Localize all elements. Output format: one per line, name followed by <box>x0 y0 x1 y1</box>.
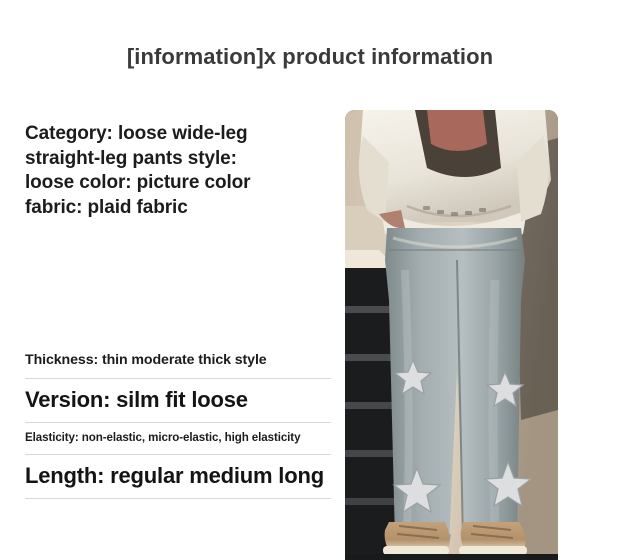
spec-rows-block: Thickness: thin moderate thick style Ver… <box>25 352 337 499</box>
spec-row-elasticity: Elasticity: non-elastic, micro-elastic, … <box>25 431 337 444</box>
spec-row-length: Length: regular medium long <box>25 463 337 489</box>
spec-elasticity-label: Elasticity: non-elastic, micro-elastic, … <box>25 431 337 444</box>
hoodie <box>359 110 551 248</box>
page-title: [information]x product information <box>0 44 620 70</box>
spec-thickness-label: Thickness: thin moderate thick style <box>25 352 337 368</box>
category-line: straight-leg pants style: <box>25 147 335 172</box>
spec-version-label: Version: silm fit loose <box>25 387 337 413</box>
spec-row-thickness: Thickness: thin moderate thick style <box>25 352 337 368</box>
product-information-page: [information]x product information Categ… <box>0 0 620 560</box>
spec-length-label: Length: regular medium long <box>25 463 337 489</box>
product-photo <box>345 110 558 560</box>
product-photo-illustration <box>345 110 558 560</box>
spec-row-version: Version: silm fit loose <box>25 387 337 413</box>
category-text: Category: loose wide-leg straight-leg pa… <box>25 122 335 221</box>
category-line: loose color: picture color <box>25 171 335 196</box>
category-line: fabric: plaid fabric <box>25 196 335 221</box>
category-spec-block: Category: loose wide-leg straight-leg pa… <box>25 122 335 221</box>
spec-divider <box>25 498 331 499</box>
category-line: Category: loose wide-leg <box>25 122 335 147</box>
